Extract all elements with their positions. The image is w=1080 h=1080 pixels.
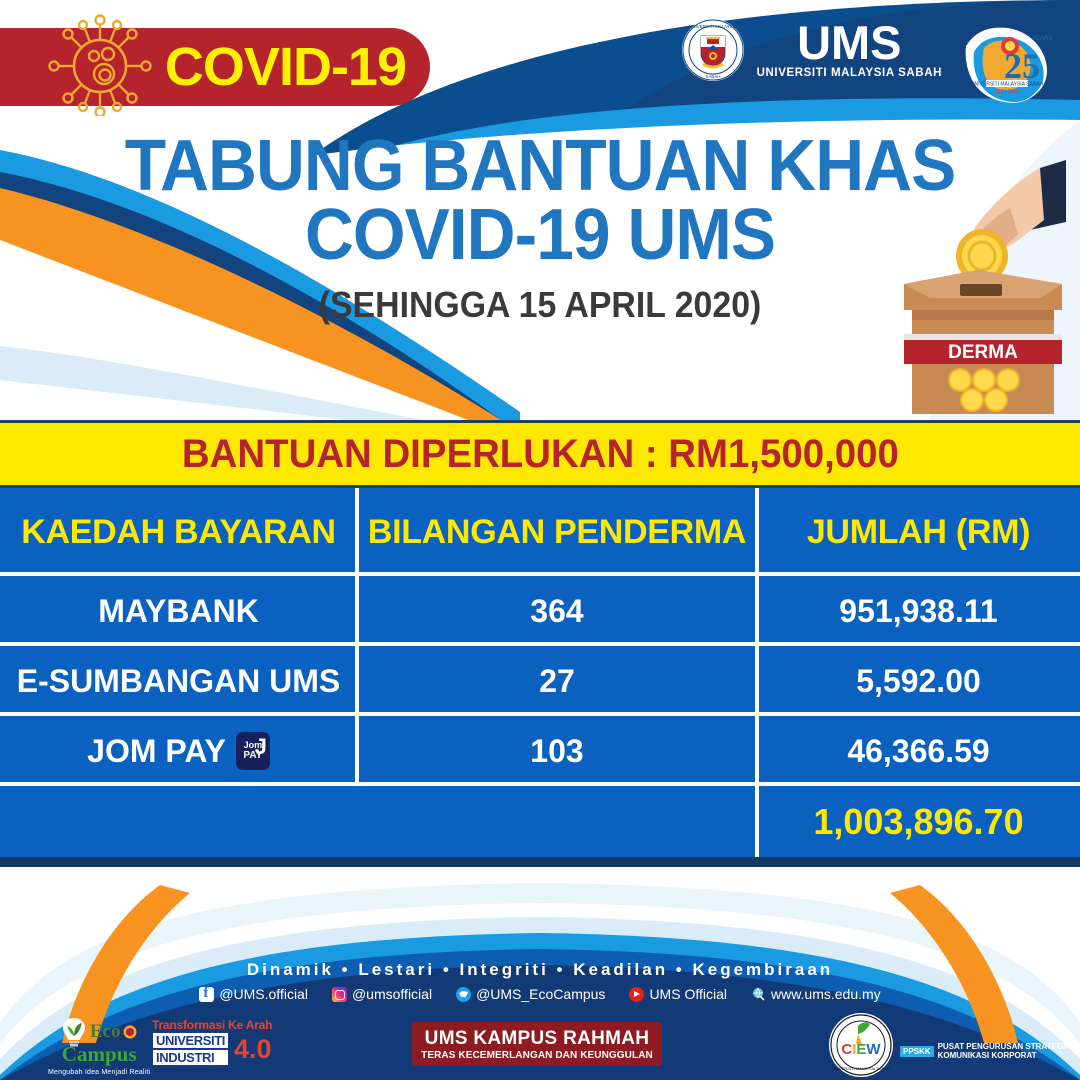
svg-text:SABAH: SABAH bbox=[705, 74, 720, 79]
column-divider bbox=[355, 576, 359, 646]
social-handle-twitter: @UMS_EcoCampus bbox=[476, 986, 605, 1002]
social-link-facebook[interactable]: @UMS.official bbox=[199, 986, 308, 1002]
kampus-rahmah-badge: UMS KAMPUS RAHMAH TERAS KECEMERLANGAN DA… bbox=[412, 1022, 662, 1066]
svg-text:UNIVERSITI MALAYSIA SABAH: UNIVERSITI MALAYSIA SABAH bbox=[971, 82, 1044, 88]
cell-method: MAYBANK bbox=[0, 576, 357, 646]
funding-goal-banner: BANTUAN DIPERLUKAN : RM1,500,000 bbox=[0, 420, 1080, 488]
column-divider bbox=[755, 786, 759, 857]
cell-method: E-SUMBANGAN UMS bbox=[0, 646, 357, 716]
svg-text:YEARS: YEARS bbox=[1032, 36, 1052, 42]
industri-line1: Transformasi Ke Arah bbox=[152, 1018, 292, 1032]
ppskk-line2: KOMUNIKASI KORPORAT bbox=[938, 1051, 1037, 1060]
industri-box-industri: INDUSTRI bbox=[152, 1049, 229, 1066]
derma-label: DERMA bbox=[948, 342, 1018, 363]
table-row: MAYBANK 364 951,938.11 bbox=[0, 576, 1080, 646]
column-divider bbox=[755, 576, 759, 646]
column-divider bbox=[755, 646, 759, 716]
eco-campus-word2: Campus bbox=[62, 1042, 137, 1067]
social-handle-instagram: @umsofficial bbox=[352, 986, 432, 1002]
donations-table: KAEDAH BAYARAN BILANGAN PENDERMA JUMLAH … bbox=[0, 488, 1080, 863]
cell-donors: 103 bbox=[357, 716, 757, 786]
table-header-donors: BILANGAN PENDERMA bbox=[357, 488, 757, 576]
poster-canvas: COVID-19 UNIVERSITI MALAYSIA SABAH UMS U… bbox=[0, 0, 1080, 1080]
ppskk-logo: PPSKK PUSAT PENGURUSAN STRATEGIK & KOMUN… bbox=[900, 1042, 1079, 1060]
twitter-icon bbox=[456, 987, 471, 1002]
column-divider bbox=[755, 716, 759, 786]
cell-donors: 364 bbox=[357, 576, 757, 646]
coronavirus-icon bbox=[48, 12, 152, 121]
eco-campus-word1: Eco bbox=[90, 1021, 121, 1043]
social-handle-facebook: @UMS.official bbox=[219, 986, 308, 1002]
university-motto: Dinamik • Lestari • Integriti • Keadilan… bbox=[0, 960, 1080, 980]
social-links-row: @UMS.official @umsofficial @UMS_EcoCampu… bbox=[0, 986, 1080, 1002]
funding-goal-label: BANTUAN DIPERLUKAN : RM1,500,000 bbox=[182, 432, 899, 477]
column-divider bbox=[355, 646, 359, 716]
youtube-icon bbox=[629, 987, 644, 1002]
ums-mini-crest-icon bbox=[123, 1025, 137, 1039]
cell-total-method bbox=[0, 786, 357, 857]
eco-campus-tagline: Mengubah Idea Menjadi Realiti bbox=[48, 1069, 150, 1076]
kampus-rahmah-line2: TERAS KECEMERLANGAN DAN KEUNGGULAN bbox=[421, 1050, 653, 1061]
column-divider bbox=[755, 488, 759, 576]
social-handle-website: www.ums.edu.my bbox=[771, 986, 881, 1002]
industri-4-0-logo: Transformasi Ke Arah UNIVERSITI INDUSTRI… bbox=[152, 1018, 292, 1066]
column-divider bbox=[355, 488, 359, 576]
ppskk-line1: PUSAT PENGURUSAN STRATEGIK & bbox=[938, 1042, 1080, 1051]
social-link-website[interactable]: www.ums.edu.my bbox=[751, 986, 881, 1002]
cell-amount: 951,938.11 bbox=[757, 576, 1080, 646]
cell-total-amount: 1,003,896.70 bbox=[757, 786, 1080, 857]
table-header-row: KAEDAH BAYARAN BILANGAN PENDERMA JUMLAH … bbox=[0, 488, 1080, 576]
svg-text:UNIVERSITI MALAYSIA: UNIVERSITI MALAYSIA bbox=[689, 24, 737, 29]
social-link-youtube[interactable]: UMS Official bbox=[629, 986, 727, 1002]
column-divider bbox=[355, 716, 359, 786]
table-total-row: 1,003,896.70 bbox=[0, 786, 1080, 857]
jompay-logo-icon: Jom PAY J bbox=[236, 732, 270, 770]
covid-badge-label: COVID-19 bbox=[165, 40, 406, 94]
title-line-1: TABUNG BANTUAN KHAS bbox=[125, 126, 956, 206]
donation-box-illustration: DERMA bbox=[890, 158, 1066, 420]
instagram-icon bbox=[332, 987, 347, 1002]
social-handle-youtube: UMS Official bbox=[649, 986, 727, 1002]
cell-amount: 46,366.59 bbox=[757, 716, 1080, 786]
ppskk-name: PUSAT PENGURUSAN STRATEGIK & KOMUNIKASI … bbox=[938, 1042, 1080, 1060]
ppskk-tag: PPSKK bbox=[900, 1046, 934, 1057]
social-link-instagram[interactable]: @umsofficial bbox=[332, 986, 432, 1002]
footer-logo-strip: Eco Campus Mengubah Idea Menjadi Realiti… bbox=[0, 1010, 1080, 1080]
ums-25-years-logo-icon: 25 YEARS UNIVERSITI MALAYSIA SABAH 1994-… bbox=[960, 16, 1052, 104]
ums-crest-icon: UNIVERSITI MALAYSIA SABAH bbox=[681, 18, 745, 82]
cell-donors: 27 bbox=[357, 646, 757, 716]
table-header-method: KAEDAH BAYARAN bbox=[0, 488, 357, 576]
industri-box-universiti: UNIVERSITI bbox=[152, 1032, 229, 1049]
cell-total-donors bbox=[357, 786, 757, 857]
ciew-logo-icon: CIEW UNIVERSITI MALAYSIA SABAH bbox=[828, 1012, 894, 1078]
cell-method: JOM PAY Jom PAY J bbox=[0, 716, 357, 786]
eco-campus-logo: Eco Campus Mengubah Idea Menjadi Realiti bbox=[48, 1016, 150, 1076]
cell-method-label: JOM PAY bbox=[87, 733, 226, 770]
ums-logo: UNIVERSITI MALAYSIA SABAH UMS UNIVERSITI… bbox=[681, 18, 942, 82]
kampus-rahmah-line1: UMS KAMPUS RAHMAH bbox=[425, 1028, 650, 1050]
cell-amount: 5,592.00 bbox=[757, 646, 1080, 716]
svg-text:UNIVERSITI MALAYSIA SABAH: UNIVERSITI MALAYSIA SABAH bbox=[832, 1066, 890, 1071]
ums-wordmark-sub: UNIVERSITI MALAYSIA SABAH bbox=[757, 67, 942, 79]
social-link-twitter[interactable]: @UMS_EcoCampus bbox=[456, 986, 605, 1002]
svg-text:CIEW: CIEW bbox=[841, 1041, 881, 1058]
svg-text:1994-2019: 1994-2019 bbox=[995, 89, 1019, 95]
industri-version: 4.0 bbox=[234, 1038, 272, 1061]
ums-wordmark: UMS bbox=[797, 21, 901, 64]
facebook-icon bbox=[199, 987, 214, 1002]
jompay-j-glyph: J bbox=[255, 736, 267, 758]
table-header-amount: JUMLAH (RM) bbox=[757, 488, 1080, 576]
website-icon bbox=[751, 987, 766, 1002]
table-row: JOM PAY Jom PAY J 103 46,366.59 bbox=[0, 716, 1080, 786]
table-row: E-SUMBANGAN UMS 27 5,592.00 bbox=[0, 646, 1080, 716]
